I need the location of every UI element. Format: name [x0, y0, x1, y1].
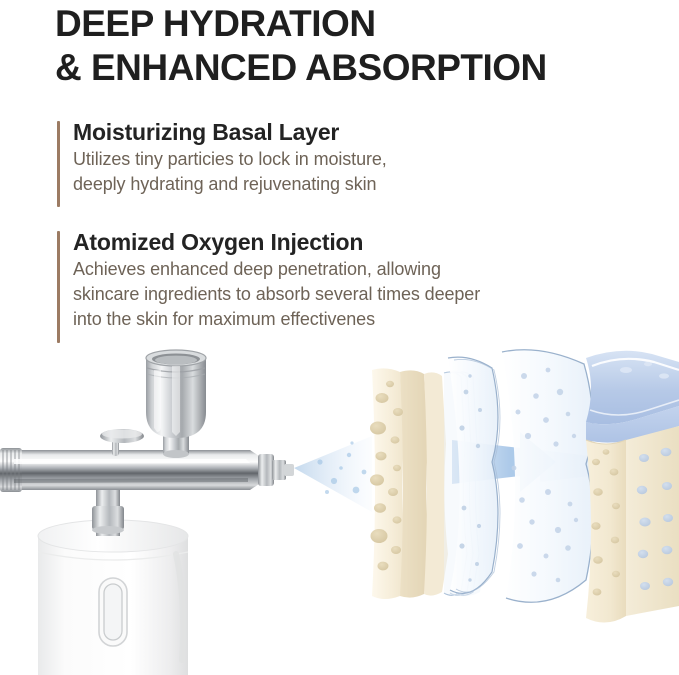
- feature-title: Moisturizing Basal Layer: [73, 117, 387, 147]
- product-illustration: [0, 340, 679, 675]
- power-indicator-button[interactable]: [99, 578, 127, 646]
- airbrush-device: [0, 350, 294, 675]
- hydrated-skin-block: [586, 351, 679, 623]
- feature-description-line: Utilizes tiny particies to lock in moist…: [73, 147, 387, 172]
- feature-description-line: into the skin for maximum effectivenes: [73, 307, 480, 332]
- feature-description-line: deeply hydrating and rejuvenating skin: [73, 172, 387, 197]
- feature-description-line: Achieves enhanced deep penetration, allo…: [73, 257, 480, 282]
- feature-description: Utilizes tiny particies to lock in moist…: [73, 147, 387, 197]
- product-feature-graphic: DEEP HYDRATION & ENHANCED ABSORPTION Moi…: [0, 0, 679, 675]
- headline-line-1: DEEP HYDRATION: [55, 2, 665, 46]
- airbrush-barrel: [0, 448, 294, 492]
- page-title: DEEP HYDRATION & ENHANCED ABSORPTION: [55, 2, 665, 90]
- accent-bar: [57, 121, 60, 207]
- feature-description-line: skincare ingredients to absorb several t…: [73, 282, 480, 307]
- nozzle-tip: [284, 464, 294, 476]
- feature-title: Atomized Oxygen Injection: [73, 227, 480, 257]
- device-base-unit: [38, 520, 188, 675]
- knurled-end-cap[interactable]: [0, 448, 22, 492]
- paint-cup: [106, 350, 206, 458]
- headline-line-2: & ENHANCED ABSORPTION: [55, 46, 665, 90]
- atomized-mist-spray: [294, 436, 372, 512]
- accent-bar: [57, 231, 60, 343]
- feature-description: Achieves enhanced deep penetration, allo…: [73, 257, 480, 332]
- skin-layer-penetration-diagram: [370, 350, 679, 623]
